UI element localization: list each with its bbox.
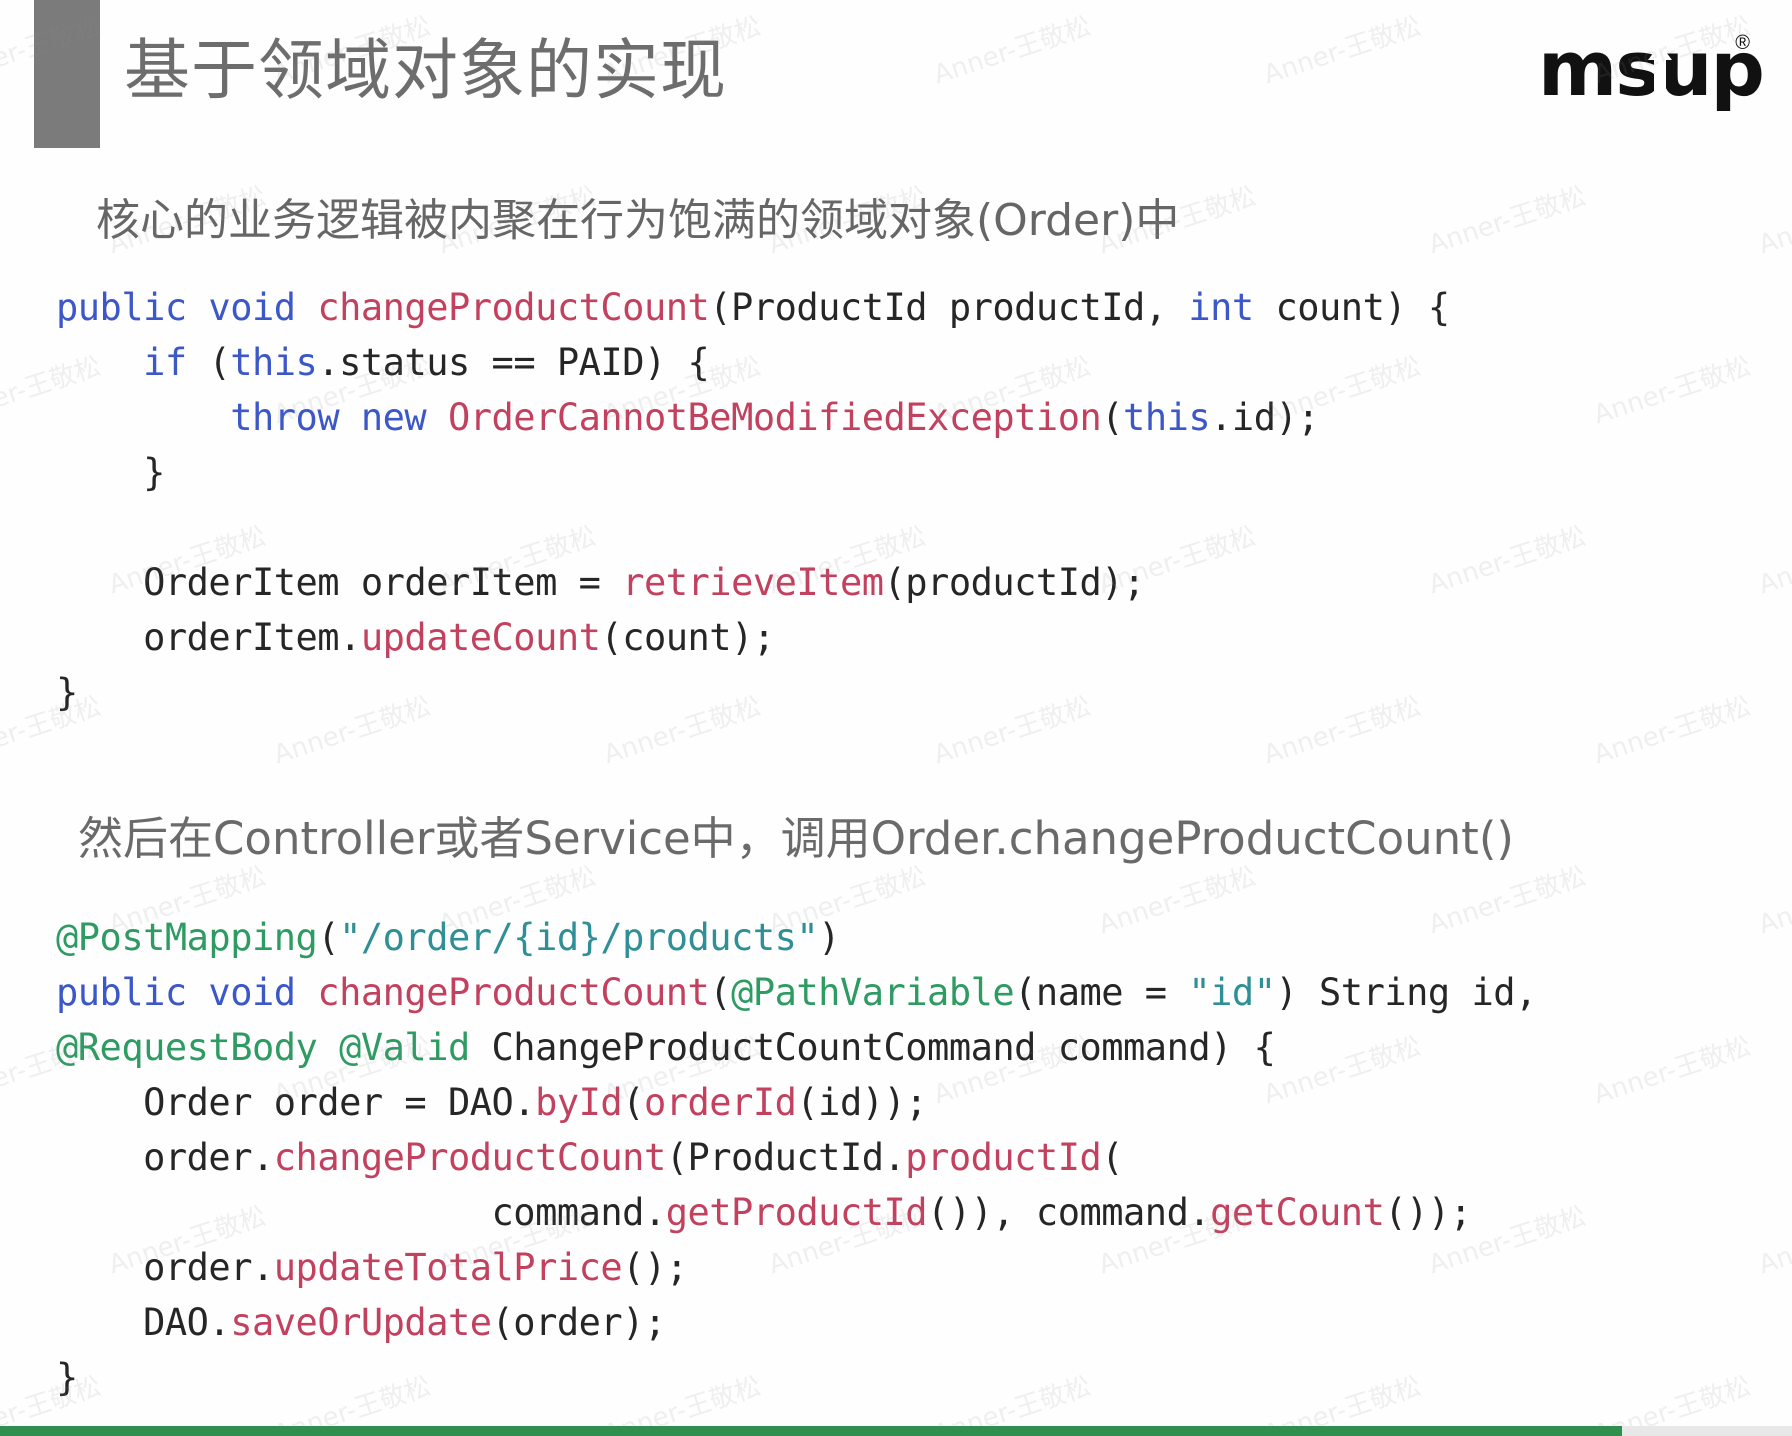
code-token: (); xyxy=(622,1246,687,1289)
arrow-up-icon xyxy=(1648,44,1672,94)
watermark-text: Anner-王敬松 xyxy=(1753,516,1792,602)
lead-text-domain-object: 核心的业务逻辑被内聚在行为饱满的领域对象(Order)中 xyxy=(96,192,1179,250)
code-token: } xyxy=(56,671,78,714)
code-token: orderId xyxy=(644,1081,796,1124)
code-token: "/order/{id}/products" xyxy=(339,916,818,959)
code-token: command. xyxy=(56,1191,666,1234)
slide-header: 基于领域对象的实现 msup ® xyxy=(0,0,1792,160)
code-token: ( xyxy=(317,916,339,959)
code1-line: orderItem.updateCount(count); xyxy=(56,610,1450,665)
code2-line: @RequestBody @Valid ChangeProductCountCo… xyxy=(56,1020,1537,1075)
watermark-text: Anner-王敬松 xyxy=(1753,1196,1792,1282)
code-token: } xyxy=(56,451,165,494)
code-token: @PostMapping xyxy=(56,916,317,959)
code-token xyxy=(426,396,448,439)
code-token: ( xyxy=(1101,1136,1123,1179)
code-token: ()); xyxy=(1384,1191,1471,1234)
code-token: ) xyxy=(818,916,840,959)
code-token: DAO. xyxy=(56,1301,230,1344)
code-token: changeProductCount xyxy=(317,971,709,1014)
code-token: byId xyxy=(535,1081,622,1124)
code-token: orderItem. xyxy=(56,616,361,659)
code-token: (id)); xyxy=(796,1081,927,1124)
code1-line: OrderItem orderItem = retrieveItem(produ… xyxy=(56,555,1450,610)
code-block-domain-order: public void changeProductCount(ProductId… xyxy=(56,280,1450,720)
watermark-text: Anner-王敬松 xyxy=(1753,176,1792,262)
watermark-text: Anner-王敬松 xyxy=(1588,686,1755,772)
code-token: (name = xyxy=(1014,971,1188,1014)
code1-line xyxy=(56,500,1450,555)
code-token: this xyxy=(230,341,317,384)
code-token: ChangeProductCountCommand command) { xyxy=(470,1026,1276,1069)
code-token: Order order = DAO. xyxy=(56,1081,535,1124)
code-token: count) { xyxy=(1254,286,1450,329)
code2-line: public void changeProductCount(@PathVari… xyxy=(56,965,1537,1020)
code-token: order. xyxy=(56,1246,274,1289)
code1-line: } xyxy=(56,665,1450,720)
code1-line: if (this.status == PAID) { xyxy=(56,335,1450,390)
code-token: ) String id, xyxy=(1275,971,1536,1014)
code2-line: @PostMapping("/order/{id}/products") xyxy=(56,910,1537,965)
code2-line: order.updateTotalPrice(); xyxy=(56,1240,1537,1295)
code-token: (ProductId productId, xyxy=(709,286,1188,329)
code-token: (count); xyxy=(600,616,774,659)
code-token: this xyxy=(1123,396,1210,439)
code2-line: } xyxy=(56,1350,1537,1405)
code-token: saveOrUpdate xyxy=(230,1301,491,1344)
code1-line: public void changeProductCount(ProductId… xyxy=(56,280,1450,335)
page-title: 基于领域对象的实现 xyxy=(124,26,727,116)
code-token: OrderCannotBeModifiedException xyxy=(448,396,1101,439)
code-token xyxy=(56,396,230,439)
code-token: throw new xyxy=(230,396,426,439)
registered-trademark-icon: ® xyxy=(1735,32,1750,55)
code2-line: order.changeProductCount(ProductId.produ… xyxy=(56,1130,1537,1185)
code-token: .id); xyxy=(1210,396,1319,439)
code-token: retrieveItem xyxy=(622,561,883,604)
code-token: @RequestBody @Valid xyxy=(56,1026,470,1069)
code-token: productId xyxy=(905,1136,1101,1179)
code-token: "id" xyxy=(1188,971,1275,1014)
code-token: getCount xyxy=(1210,1191,1384,1234)
watermark-text: Anner-王敬松 xyxy=(1753,856,1792,942)
code-token: updateTotalPrice xyxy=(274,1246,622,1289)
code-token: ( xyxy=(709,971,731,1014)
watermark-text: Anner-王敬松 xyxy=(1588,346,1755,432)
footer-accent-bar xyxy=(0,1426,1792,1436)
logo-wordmark: msup xyxy=(1538,26,1748,112)
code-token: if xyxy=(143,341,187,384)
code2-line: DAO.saveOrUpdate(order); xyxy=(56,1295,1537,1350)
code-token: .status == PAID) { xyxy=(317,341,709,384)
lead-text-controller-service: 然后在Controller或者Service中，调用Order.changePr… xyxy=(78,810,1514,868)
code-token xyxy=(56,341,143,384)
code-token: updateCount xyxy=(361,616,601,659)
code-token: (productId); xyxy=(884,561,1145,604)
code-token: OrderItem orderItem = xyxy=(56,561,622,604)
code-token: getProductId xyxy=(666,1191,927,1234)
footer-accent-bar-gap xyxy=(1622,1426,1792,1436)
code-token: } xyxy=(56,1356,78,1399)
code-token: ( xyxy=(622,1081,644,1124)
code-token: (order); xyxy=(492,1301,666,1344)
code-token: ()), command. xyxy=(927,1191,1210,1234)
code-token: ( xyxy=(1101,396,1123,439)
watermark-text: Anner-王敬松 xyxy=(1423,176,1590,262)
code-token: order. xyxy=(56,1136,274,1179)
code-token: @PathVariable xyxy=(731,971,1014,1014)
title-accent-block xyxy=(34,0,100,148)
code-token: public void xyxy=(56,286,317,329)
code-token: changeProductCount xyxy=(317,286,709,329)
code-token: ( xyxy=(187,341,231,384)
code-token: int xyxy=(1188,286,1253,329)
code1-line: throw new OrderCannotBeModifiedException… xyxy=(56,390,1450,445)
code1-line: } xyxy=(56,445,1450,500)
code2-line: command.getProductId()), command.getCoun… xyxy=(56,1185,1537,1240)
code-block-controller: @PostMapping("/order/{id}/products")publ… xyxy=(56,910,1537,1405)
code-token: public void xyxy=(56,971,317,1014)
code2-line: Order order = DAO.byId(orderId(id)); xyxy=(56,1075,1537,1130)
watermark-text: Anner-王敬松 xyxy=(1588,1026,1755,1112)
code-token: changeProductCount xyxy=(274,1136,666,1179)
msup-logo: msup ® xyxy=(1538,26,1748,112)
code-token: (ProductId. xyxy=(666,1136,906,1179)
